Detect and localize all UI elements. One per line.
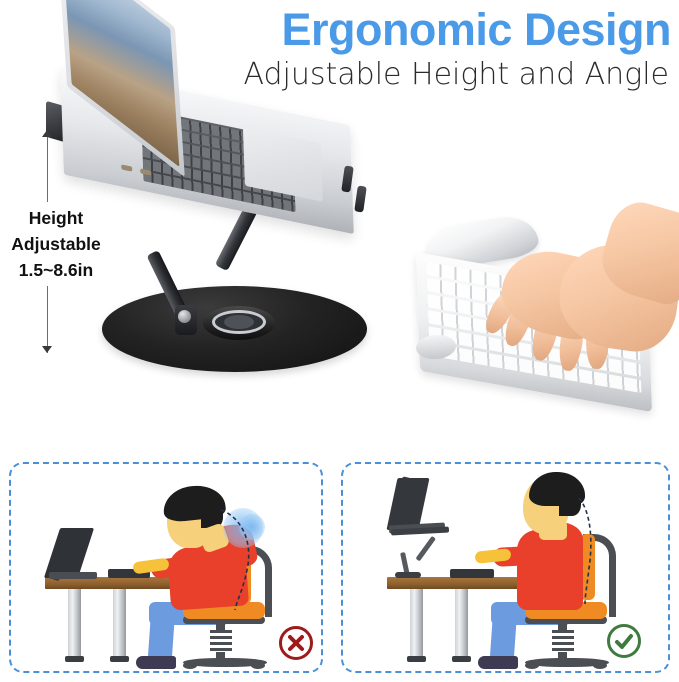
desk-leg [410, 589, 423, 657]
desk-foot [65, 656, 84, 662]
chair-caster [251, 662, 265, 669]
dimension-label-line-1: Height [0, 205, 112, 231]
dimension-label-line-3: 1.5~8.6in [0, 257, 112, 283]
chair-gas-lift [210, 630, 232, 654]
stand-front-hook-2 [354, 186, 367, 213]
chair-caster [183, 662, 197, 669]
neck [539, 520, 567, 540]
x-circle-icon [279, 626, 313, 660]
desk-foot [110, 656, 129, 662]
desk-surface [387, 577, 527, 589]
check-circle-icon [607, 624, 641, 658]
desk-leg [113, 589, 126, 657]
chair-gas-lift [552, 630, 574, 654]
shoe [136, 656, 176, 669]
dimension-label-line-2: Adjustable [0, 231, 112, 257]
chair-caster [525, 662, 539, 669]
stand-arm-upper [415, 536, 436, 562]
panel-bad-posture [9, 462, 323, 673]
desk-foot [452, 656, 471, 662]
stand-hub-core [224, 315, 254, 329]
desk-leg [68, 589, 81, 657]
spine-curve [209, 504, 269, 614]
desk-leg [455, 589, 468, 657]
height-dimension-callout: Height Adjustable 1.5~8.6in [0, 120, 120, 370]
panel-good-posture [341, 462, 670, 673]
dimension-arrow-up-icon [42, 130, 52, 137]
stand-base-plate [395, 572, 421, 578]
laptop-base [49, 572, 97, 579]
dimension-label: Height Adjustable 1.5~8.6in [0, 202, 112, 286]
hands-typing-photo [420, 215, 679, 405]
laptop-screen-raised [386, 478, 429, 530]
dimension-arrow-down-icon [42, 346, 52, 353]
chair-caster [593, 662, 607, 669]
stand-arm-knob-icon [178, 310, 191, 323]
desk-foot [407, 656, 426, 662]
external-keyboard [450, 569, 494, 578]
shoe [478, 656, 518, 669]
laptop-screen [44, 528, 94, 578]
spine-curve [569, 494, 609, 606]
